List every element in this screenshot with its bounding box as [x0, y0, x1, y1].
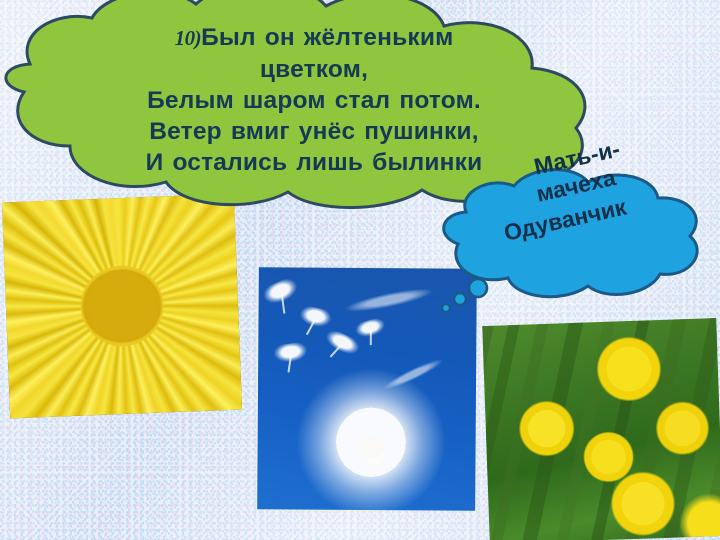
photo-coltsfoot-flower[interactable]: [2, 194, 242, 419]
thought-tail-bubble-large: [469, 279, 487, 297]
coltsfoot-center: [2, 194, 242, 419]
flying-seed-3: [271, 341, 312, 374]
riddle-number: 10): [175, 26, 202, 50]
riddle-line-1-text: Был он жёлтеньким: [201, 24, 453, 51]
photo-dandelion-field[interactable]: [482, 318, 720, 540]
riddle-line-2: Белым шаром стал потом.: [88, 85, 540, 116]
thought-tail-bubble-small: [442, 304, 450, 312]
riddle-line-1-cont: цветком,: [88, 54, 540, 85]
thought-tail-bubble-medium: [454, 293, 466, 305]
riddle-text-block: 10)Был он жёлтеньким цветком, Белым шаро…: [88, 22, 540, 178]
sky-wisp-2: [379, 354, 447, 395]
sky-wisp-1: [340, 283, 437, 318]
slide-canvas: 10)Был он жёлтеньким цветком, Белым шаро…: [0, 0, 720, 540]
riddle-line-1: 10)Был он жёлтеньким: [88, 22, 540, 54]
flying-seed-5: [352, 316, 391, 348]
riddle-line-3: Ветер вмиг унёс пушинки,: [88, 116, 540, 147]
